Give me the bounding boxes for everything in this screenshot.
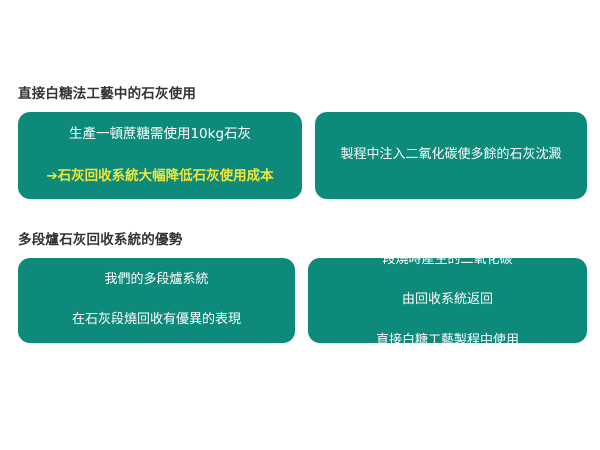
slide-canvas: 直接白糖法工藝中的石灰使用 生產一頓蔗糖需使用10kg石灰 ➔石灰回收系統大幅降… [0,0,600,450]
card-co2-injection-line-1: 製程中注入二氧化碳使多餘的石灰沈澱 [340,145,561,165]
card-msf-performance-text: 我們的多段爐系統 在石灰段燒回收有優異的表現 [72,250,241,351]
card-co2-recycle-loop-text: 段燒時產生的二氧化碳 由回收系統返回 直接白糖工藝製程中使用 [376,230,519,371]
card-co2-injection-text: 製程中注入二氧化碳使多餘的石灰沈澱 [340,125,561,185]
card-co2-recycle-loop-line-1: 段燒時產生的二氧化碳 [376,250,519,270]
card-co2-recycle-loop-line-2: 由回收系統返回 [376,290,519,310]
card-co2-recycle-loop-line-3: 直接白糖工藝製程中使用 [376,331,519,351]
card-co2-injection: 製程中注入二氧化碳使多餘的石灰沈澱 [315,112,587,199]
section-msf-advantages: 多段爐石灰回收系統的優勢 我們的多段爐系統 在石灰段燒回收有優異的表現 段燒時產… [0,232,600,343]
card-lime-consumption-highlight: ➔石灰回收系統大幅降低石灰使用成本 [46,166,273,187]
card-lime-consumption-text: 生產一頓蔗糖需使用10kg石灰 ➔石灰回收系統大幅降低石灰使用成本 [46,103,273,208]
card-msf-performance-line-1: 我們的多段爐系統 [72,270,241,290]
card-co2-recycle-loop: 段燒時產生的二氧化碳 由回收系統返回 直接白糖工藝製程中使用 [308,258,587,343]
card-row-top: 生產一頓蔗糖需使用10kg石灰 ➔石灰回收系統大幅降低石灰使用成本 製程中注入二… [0,112,600,199]
card-lime-consumption-line-1: 生產一頓蔗糖需使用10kg石灰 [46,124,273,145]
card-lime-consumption: 生產一頓蔗糖需使用10kg石灰 ➔石灰回收系統大幅降低石灰使用成本 [18,112,302,199]
section-lime-usage: 直接白糖法工藝中的石灰使用 生產一頓蔗糖需使用10kg石灰 ➔石灰回收系統大幅降… [0,86,600,199]
card-msf-performance: 我們的多段爐系統 在石灰段燒回收有優異的表現 [18,258,295,343]
arrow-right-icon: ➔ [46,168,57,184]
card-row-bottom: 我們的多段爐系統 在石灰段燒回收有優異的表現 段燒時產生的二氧化碳 由回收系統返… [0,258,600,343]
card-msf-performance-line-2: 在石灰段燒回收有優異的表現 [72,310,241,330]
section-heading-lime-usage: 直接白糖法工藝中的石灰使用 [18,86,600,103]
card-lime-consumption-line-2: 石灰回收系統大幅降低石灰使用成本 [58,168,274,184]
